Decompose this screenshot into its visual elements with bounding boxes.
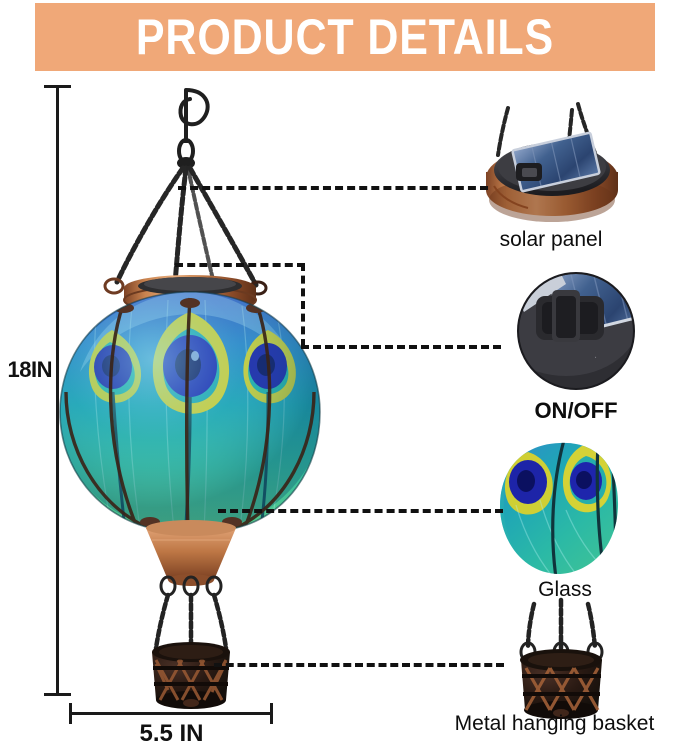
basket-chains (156, 577, 226, 648)
page-title: PRODUCT DETAILS (78, 3, 611, 71)
chain-ring-left (105, 279, 123, 293)
leader-line-glass (218, 509, 503, 513)
svg-text:.: . (594, 349, 597, 361)
chain-ring-right (250, 282, 266, 294)
callout-label-solar-panel: solar panel (432, 228, 670, 252)
height-dimension-cap-bottom (44, 693, 71, 696)
leader-line-metal-basket (214, 663, 504, 667)
solar-panel-callout-image (486, 104, 618, 222)
leader-line-on-off-segment-3 (301, 345, 501, 349)
leader-line-on-off-segment-2 (301, 263, 305, 347)
width-dimension-label: 5.5 IN (70, 720, 273, 748)
hanging-hook (177, 90, 208, 169)
glass-balloon-body (58, 292, 322, 532)
width-dimension-line (70, 712, 273, 715)
leader-line-on-off-segment-1 (175, 263, 305, 267)
peacock-feather-right (243, 330, 295, 520)
copper-top-collar (124, 275, 256, 318)
metal-basket-callout-image (520, 600, 602, 719)
glass-callout-image (500, 438, 618, 578)
product-illustration: . (0, 0, 679, 746)
callout-label-glass: Glass (480, 578, 650, 602)
leader-line-solar-panel (178, 186, 488, 190)
copper-burner-cone (146, 520, 236, 586)
on-off-callout-image: . (480, 251, 657, 420)
height-dimension-cap-top (44, 85, 71, 88)
peacock-feather-center (153, 312, 229, 528)
height-dimension-line (56, 85, 59, 696)
height-dimension-label: 18IN (0, 357, 52, 383)
metal-hanging-basket-main (152, 642, 230, 709)
peacock-feather-left (89, 330, 141, 520)
callout-label-metal-hanging-basket: Metal hanging basket (430, 712, 679, 736)
callout-label-on-off: ON/OFF (476, 398, 676, 424)
product-details-infographic: PRODUCT DETAILS (0, 0, 679, 746)
